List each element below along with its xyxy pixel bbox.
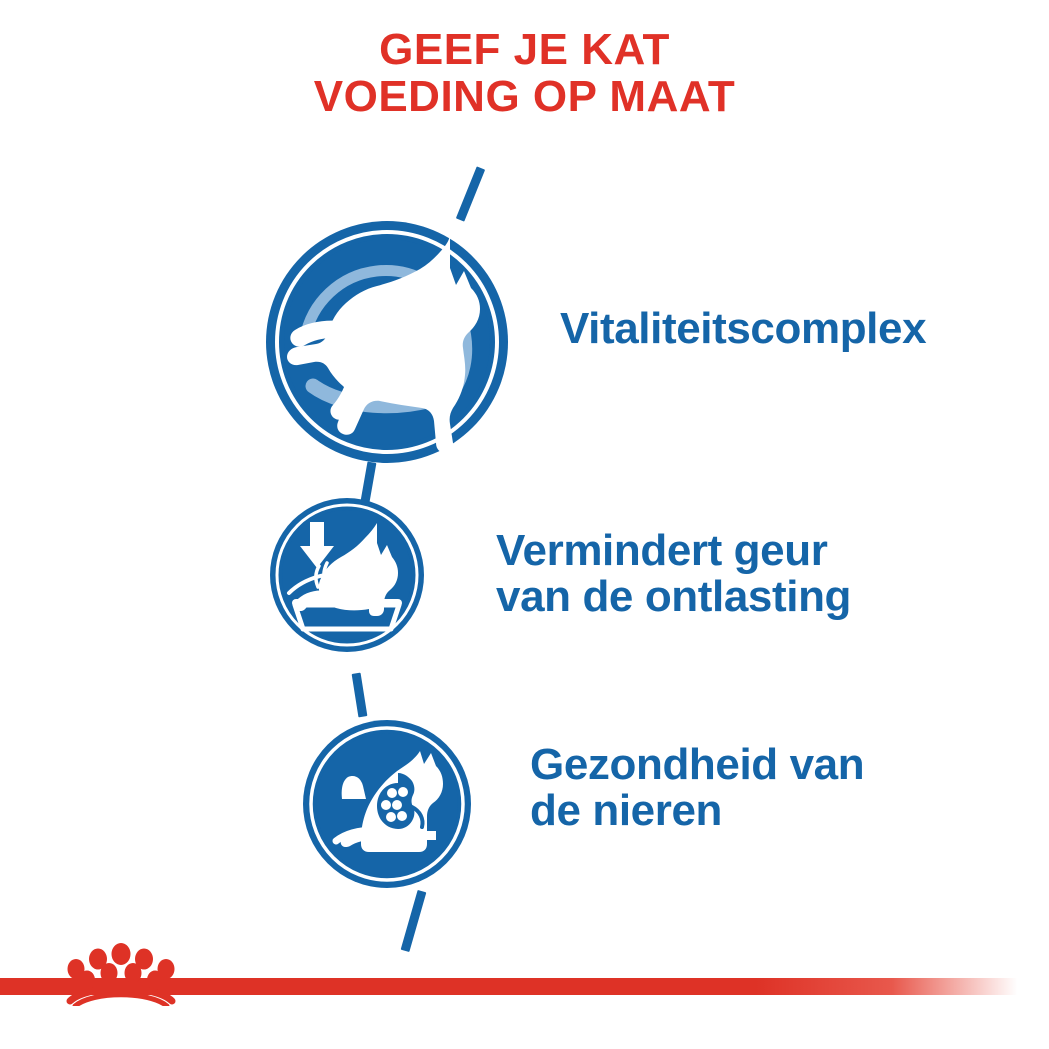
connector-dash-2-3: [352, 673, 368, 718]
headline-line-2: VOEDING OP MAAT: [0, 73, 1049, 120]
feature-2-line-1: Vermindert geur: [496, 528, 851, 574]
feature-3-line-1: Gezondheid van: [530, 742, 864, 788]
feature-3-line-2: de nieren: [530, 788, 864, 834]
headline-line-1: GEEF JE KAT: [0, 26, 1049, 73]
feature-label-3: Gezondheid van de nieren: [530, 742, 864, 834]
feature-1-line-1: Vitaliteitscomplex: [560, 306, 926, 352]
connector-dash-top: [456, 166, 485, 221]
walking-cat-circle-icon: [265, 220, 509, 464]
feature-row-1: Vitaliteitscomplex: [560, 306, 926, 352]
feature-label-1: Vitaliteitscomplex: [560, 306, 926, 352]
feature-label-2: Vermindert geur van de ontlasting: [496, 528, 851, 620]
cat-litter-box-odor-circle-icon: [269, 497, 425, 653]
product-benefits-infographic: GEEF JE KAT VOEDING OP MAAT: [0, 0, 1049, 1049]
feature-row-2: Vermindert geur van de ontlasting: [496, 528, 851, 620]
royal-canin-crown-icon: [62, 940, 180, 1006]
feature-row-3: Gezondheid van de nieren: [530, 742, 864, 834]
cat-kidney-health-circle-icon: [302, 719, 472, 889]
connector-dash-bottom: [401, 890, 427, 952]
feature-2-line-2: van de ontlasting: [496, 574, 851, 620]
page-title: GEEF JE KAT VOEDING OP MAAT: [0, 26, 1049, 120]
